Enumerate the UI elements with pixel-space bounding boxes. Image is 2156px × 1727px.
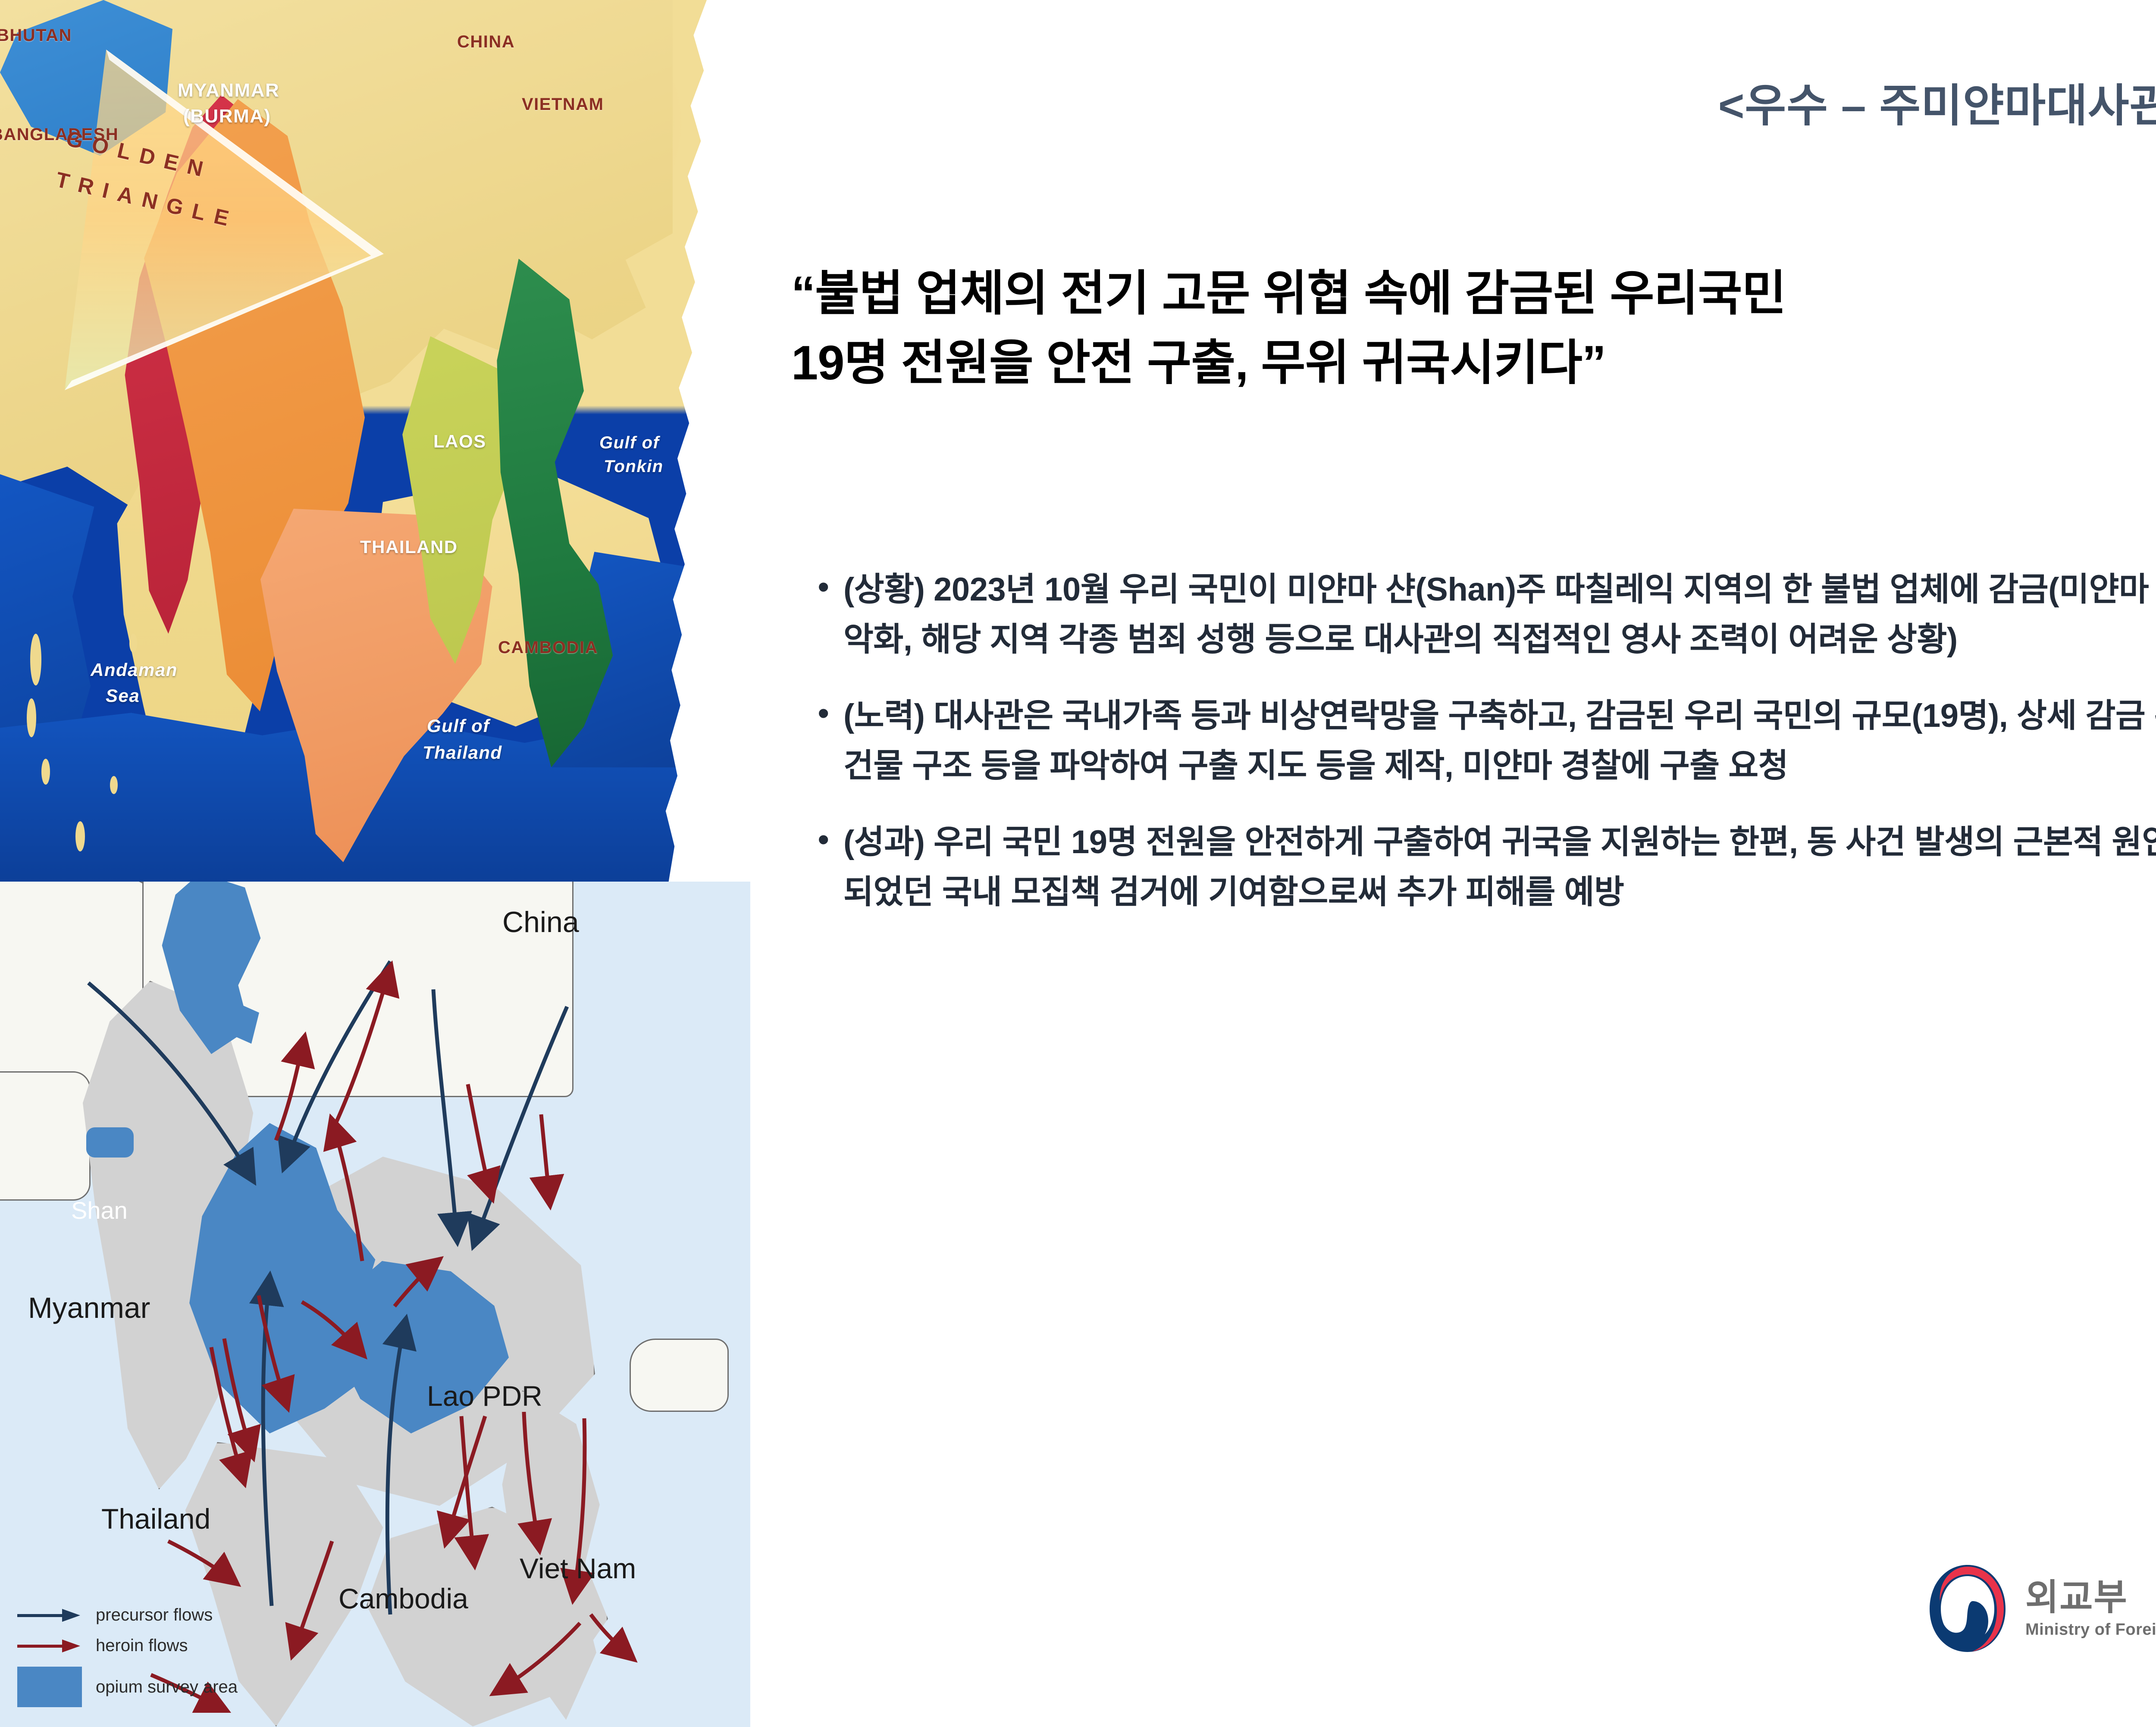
- bullet-text-effort: (노력) 대사관은 국내가족 등과 비상연락망을 구축하고, 감금된 우리 국민…: [843, 691, 2156, 791]
- flow-label-china: China: [502, 905, 579, 939]
- flow-label-cambodia: Cambodia: [338, 1582, 468, 1615]
- heroin-arrow-icon: [17, 1639, 82, 1653]
- map-label-vietnam: VIETNAM: [522, 95, 604, 114]
- map-label-laos: LAOS: [433, 431, 486, 452]
- legend-item-precursor-flows: precursor flows: [17, 1605, 238, 1625]
- logo-text-korean: 외교부: [2025, 1579, 2156, 1615]
- sea-label-gulf-of-tonkin-line1: Gulf of: [599, 433, 659, 453]
- bullet-list: • (상황) 2023년 10월 우리 국민이 미얀마 샨(Shan)주 따칠레…: [811, 565, 2156, 917]
- map-label-myanmar: MYANMAR: [178, 80, 279, 101]
- bullet-marker: •: [811, 691, 843, 735]
- page-title-line-2: 19명 전원을 안전 구출, 무위 귀국시키다”: [791, 328, 2156, 397]
- bullet-text-situation: (상황) 2023년 10월 우리 국민이 미얀마 샨(Shan)주 따칠레익 …: [843, 565, 2156, 664]
- page-title: “불법 업체의 전기 고문 위협 속에 감금된 우리국민 19명 전원을 안전 …: [791, 259, 2156, 398]
- list-item: • (성과) 우리 국민 19명 전원을 안전하게 구출하여 귀국을 지원하는 …: [811, 817, 2156, 917]
- logo-text-english: Ministry of Foreign Affairs: [2025, 1621, 2156, 1638]
- sea-label-gulf-of-thailand-line2: Thailand: [423, 742, 502, 763]
- opium-flows-map: China Myanmar Shan Lao PDR Thailand Camb…: [0, 882, 750, 1727]
- taegeuk-logo-icon: [1927, 1563, 2008, 1654]
- list-item: • (노력) 대사관은 국내가족 등과 비상연락망을 구축하고, 감금된 우리 …: [811, 691, 2156, 791]
- precursor-arrow-icon: [17, 1608, 82, 1623]
- sea-label-andaman-line2: Sea: [106, 685, 140, 706]
- opium-survey-swatch-icon: [17, 1667, 82, 1707]
- sea-label-andaman-line1: Andaman: [91, 660, 178, 680]
- map-label-china: CHINA: [457, 32, 515, 52]
- legend-label-precursor-flows: precursor flows: [96, 1605, 213, 1625]
- page-title-line-1: “불법 업체의 전기 고문 위협 속에 감금된 우리국민: [791, 259, 2156, 328]
- sea-label-gulf-of-tonkin-line2: Tonkin: [604, 457, 664, 476]
- flow-label-myanmar: Myanmar: [28, 1291, 150, 1325]
- map-label-cambodia: CAMBODIA: [498, 638, 598, 657]
- bullet-marker: •: [811, 817, 843, 862]
- map-label-burma: (BURMA): [183, 106, 271, 127]
- document-header-label: <우수 – 주미얀마대사관>: [1718, 69, 2156, 134]
- legend-label-heroin-flows: heroin flows: [96, 1636, 188, 1655]
- legend-label-opium-survey-area: opium survey area: [96, 1677, 238, 1697]
- map-legend: precursor flows heroin flows opium surve…: [17, 1605, 238, 1707]
- flow-label-thailand: Thailand: [101, 1502, 210, 1535]
- map-label-thailand: THAILAND: [360, 537, 458, 557]
- legend-item-heroin-flows: heroin flows: [17, 1636, 238, 1655]
- sea-label-gulf-of-thailand-line1: Gulf of: [427, 716, 490, 736]
- flow-label-shan: Shan: [71, 1196, 128, 1224]
- map-label-bhutan: BHUTAN: [0, 26, 72, 45]
- ministry-of-foreign-affairs-logo: 외교부 Ministry of Foreign Affairs: [1927, 1563, 2156, 1654]
- bullet-text-outcome: (성과) 우리 국민 19명 전원을 안전하게 구출하여 귀국을 지원하는 한편…: [843, 817, 2156, 917]
- golden-triangle-map: BHUTAN BANGLADESH CHINA VIETNAM CAMBODIA…: [0, 0, 729, 882]
- legend-item-opium-survey-area: opium survey area: [17, 1667, 238, 1707]
- content-column: <우수 – 주미얀마대사관> “불법 업체의 전기 고문 위협 속에 감금된 우…: [759, 0, 2156, 1727]
- list-item: • (상황) 2023년 10월 우리 국민이 미얀마 샨(Shan)주 따칠레…: [811, 565, 2156, 664]
- flow-label-lao-pdr: Lao PDR: [427, 1380, 542, 1412]
- illustration-column: BHUTAN BANGLADESH CHINA VIETNAM CAMBODIA…: [0, 0, 759, 1727]
- bullet-marker: •: [811, 565, 843, 609]
- flow-label-viet-nam: Viet Nam: [520, 1552, 636, 1585]
- logo-wordmark: 외교부 Ministry of Foreign Affairs: [2025, 1579, 2156, 1638]
